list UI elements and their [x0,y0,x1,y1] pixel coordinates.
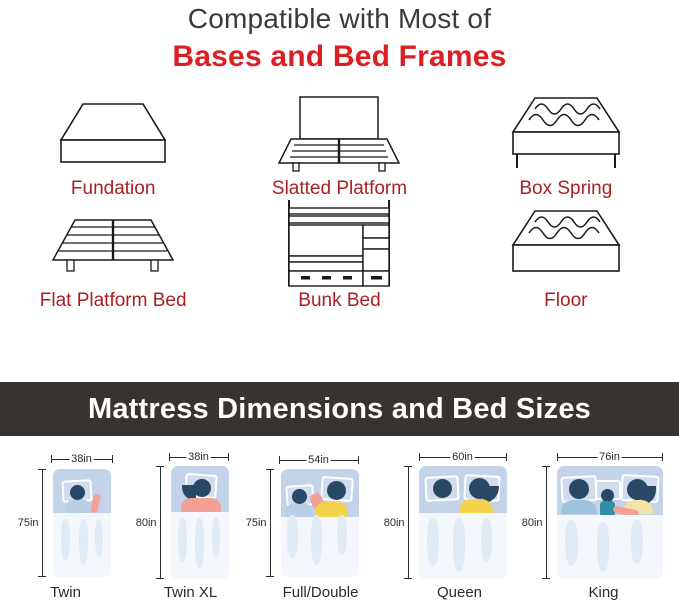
bed-illustration [419,466,507,579]
width-value: 76in [597,451,622,463]
person-body [561,500,597,514]
width-value: 38in [186,451,211,463]
width-value: 60in [450,451,475,463]
base-label: Bunk Bed [298,290,380,312]
bed-size-label: Full/Double [283,584,359,602]
base-label: Floor [544,290,587,312]
base-label: Fundation [71,178,156,200]
person-head [469,478,490,499]
base-item-bunk-bed[interactable]: Bunk Bed [226,202,452,320]
length-value: 75in [244,517,269,529]
width-dimension: 38in [51,451,113,467]
bed-size-label: King [588,584,618,602]
width-dimension: 60in [419,449,507,465]
foundation-box-icon [51,92,175,174]
length-dimension: 80in [155,466,165,579]
person-head [569,479,589,499]
bed-size-label: Queen [437,584,482,602]
flat-platform-bed-icon [45,202,181,284]
compatible-bases-grid: Fundation Slatted Platform [0,92,679,320]
length-value: 80in [382,517,407,529]
floor-mattress-icon [503,202,629,284]
width-dimension: 38in [169,449,229,465]
length-dimension: 75in [37,469,47,577]
bed-size-twin[interactable]: 38in 75in Twin [1,449,131,602]
length-value: 75in [16,517,41,529]
base-item-box-spring[interactable]: Box Spring [453,92,679,202]
bed-size-queen[interactable]: 60in 80in Queen [391,449,529,602]
bunk-bed-icon [283,202,395,284]
length-value: 80in [134,517,159,529]
bed-size-king[interactable]: 76in 80in [529,449,679,602]
base-item-fundation[interactable]: Fundation [0,92,226,202]
person-blanket-accent [459,499,493,514]
length-value: 80in [520,517,545,529]
base-item-floor[interactable]: Floor [453,202,679,320]
base-item-slatted-platform[interactable]: Slatted Platform [226,92,452,202]
bed-size-twin-xl[interactable]: 38in 80in Twin XL [131,449,251,602]
base-label: Flat Platform Bed [40,290,187,312]
length-dimension: 80in [541,466,551,579]
width-dimension: 54in [279,452,359,468]
person-head [193,479,211,497]
bed-size-label: Twin XL [164,584,217,602]
person-head [327,481,346,500]
length-dimension: 75in [265,469,275,577]
person-head [627,479,648,500]
page-title-line1: Compatible with Most of [0,2,679,36]
bed-illustration [557,466,663,579]
width-dimension: 76in [557,449,663,465]
bed-illustration [171,466,229,579]
width-value: 54in [306,454,331,466]
length-dimension: 80in [403,466,413,579]
page-header: Compatible with Most of Bases and Bed Fr… [0,0,679,76]
bed-size-full-double[interactable]: 54in 75in Ful [251,449,391,602]
base-label: Box Spring [519,178,612,200]
section-banner: Mattress Dimensions and Bed Sizes [0,382,679,436]
width-value: 38in [69,453,94,465]
person-head [70,485,85,500]
box-spring-icon [503,92,629,174]
bed-sizes-row: 38in 75in Twin [0,440,679,602]
bed-illustration [53,469,111,577]
base-item-flat-platform-bed[interactable]: Flat Platform Bed [0,202,226,320]
banner-title: Mattress Dimensions and Bed Sizes [88,393,591,426]
person-head [292,489,307,504]
page-title-line2: Bases and Bed Frames [0,38,679,76]
base-label: Slatted Platform [272,178,407,200]
slatted-platform-bed-icon [273,92,405,174]
person-head [433,479,452,498]
bed-illustration [281,469,359,577]
bed-size-label: Twin [50,584,81,602]
